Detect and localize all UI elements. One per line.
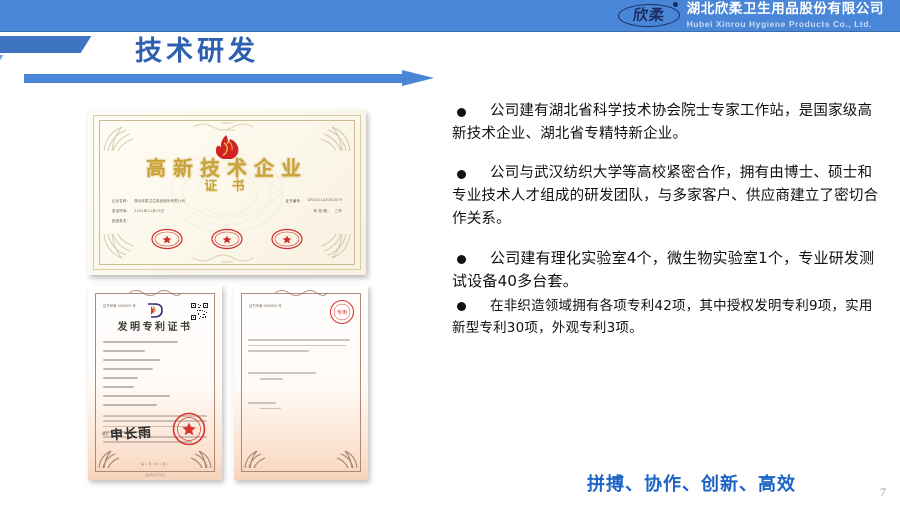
logo-text: 欣柔 — [632, 8, 666, 23]
company-name-en: Hubei Xinrou Hygiene Products Co., Ltd. — [687, 20, 884, 29]
certificate-field-value: 湖北欣柔卫生用品股份有限公司 — [134, 198, 185, 203]
certificates-gallery: 高新技术企业 证 书 企业名称： 湖北欣柔卫生用品股份有限公司 证书编号： GR… — [88, 110, 368, 470]
cnipa-logo-icon — [145, 302, 165, 319]
bullet-dot-icon — [457, 108, 466, 117]
company-name-cn: 湖北欣柔卫生用品股份有限公司 — [687, 3, 884, 17]
qr-code-icon — [191, 303, 208, 320]
patent-document-page-image: 证书号第 0000000 号 专用 — [234, 285, 368, 480]
patent-body-lines — [248, 309, 354, 413]
patent-title: 发明专利证书 — [88, 323, 222, 333]
certificate-field-value: 2021年11月15日 — [134, 208, 164, 213]
certificate-field-value: 三年 — [335, 208, 342, 213]
patent-doc-number: 证书号第 0000000 号 — [249, 303, 282, 308]
list-item: 在非织造领域拥有各项专利42项，其中授权发明专利9项，实用新型专利30项，外观专… — [452, 296, 882, 340]
patent-sign-label: 局长 — [102, 431, 108, 436]
footer-slogan: 拼搏、协作、创新、高效 — [587, 470, 796, 496]
patent-bottom-note: 国家知识产权局 — [88, 473, 222, 477]
certificate-corner-ornament — [102, 123, 136, 153]
patent-corner-ornament — [243, 448, 267, 470]
red-round-seal-icon — [172, 412, 206, 446]
certificate-field-label: 企业名称： — [112, 198, 130, 203]
bullet-dot-icon — [457, 255, 466, 264]
list-item: 公司建有理化实验室4个，微生物实验室1个，专业研发测试设备40多台套。 — [452, 247, 882, 294]
list-item: 公司建有湖北省科学技术协会院士专家工作站，是国家级高新技术企业、湖北省专精特新企… — [452, 100, 882, 146]
certificate-seals — [88, 228, 366, 250]
patent-field-lines — [103, 341, 207, 413]
patent-top-ornament — [127, 288, 183, 298]
patent-doc-number: 证书号第 0000000 号 — [103, 303, 136, 308]
patent-top-ornament — [273, 288, 329, 298]
page-title: 技术研发 — [135, 36, 259, 67]
red-seal-icon — [150, 228, 184, 250]
brand-lockup: 欣柔 湖北欣柔卫生用品股份有限公司 Hubei Xinrou Hygiene P… — [618, 0, 884, 31]
bullet-text: 公司建有理化实验室4个，微生物实验室1个，专业研发测试设备40多台套。 — [452, 247, 882, 294]
patent-footnote: 第 1 页（共 1 页） — [88, 462, 222, 466]
high-tech-enterprise-certificate-image: 高新技术企业 证 书 企业名称： 湖北欣柔卫生用品股份有限公司 证书编号： GR… — [88, 110, 366, 275]
certificate-field-label: 批准机关： — [112, 218, 130, 223]
page-number: 7 — [880, 485, 886, 500]
arrow-divider — [24, 70, 434, 87]
certificate-field-label: 证书编号： — [285, 198, 303, 203]
bullet-dot-icon — [457, 302, 466, 311]
invention-patent-certificate-image: 证书号第 0000000 号 发明专利证书 — [88, 285, 222, 480]
content-bullet-list: 公司建有湖北省科学技术协会院士专家工作站，是国家级高新技术企业、湖北省专精特新企… — [452, 100, 882, 356]
bullet-text: 在非织造领域拥有各项专利42项，其中授权发明专利9项，实用新型专利30项，外观专… — [452, 296, 882, 340]
header-band: 欣柔 湖北欣柔卫生用品股份有限公司 Hubei Xinrou Hygiene P… — [0, 0, 900, 32]
red-seal-icon — [270, 228, 304, 250]
certificate-title: 高新技术企业 — [88, 158, 366, 178]
certificate-field-value: GR202142002579 — [308, 198, 342, 203]
certificate-corner-ornament — [318, 123, 352, 153]
certificate-field-label: 发证时间： — [112, 208, 130, 213]
patent-corner-ornament — [97, 448, 121, 470]
list-item: 公司与武汉纺织大学等高校紧密合作，拥有由博士、硕士和专业技术人才组成的研发团队，… — [452, 162, 882, 231]
red-seal-icon — [210, 228, 244, 250]
certificate-fields: 企业名称： 湖北欣柔卫生用品股份有限公司 证书编号： GR20214200257… — [112, 198, 342, 228]
patent-corner-ornament — [335, 448, 359, 470]
bullet-dot-icon — [457, 170, 466, 179]
certificate-top-ornament — [191, 121, 263, 132]
patent-corner-ornament — [189, 448, 213, 470]
bullet-text: 公司建有湖北省科学技术协会院士专家工作站，是国家级高新技术企业、湖北省专精特新企… — [452, 100, 882, 146]
bullet-text: 公司与武汉纺织大学等高校紧密合作，拥有由博士、硕士和专业技术人才组成的研发团队，… — [452, 162, 882, 231]
company-logo-icon: 欣柔 — [618, 3, 680, 28]
patent-signature: 申长雨 — [109, 422, 152, 444]
certificate-subtitle: 证 书 — [88, 180, 366, 193]
slide: 欣柔 湖北欣柔卫生用品股份有限公司 Hubei Xinrou Hygiene P… — [0, 0, 900, 510]
certificate-field-label: 有 效 期： — [314, 208, 331, 213]
certificate-bottom-ornament — [191, 253, 263, 264]
